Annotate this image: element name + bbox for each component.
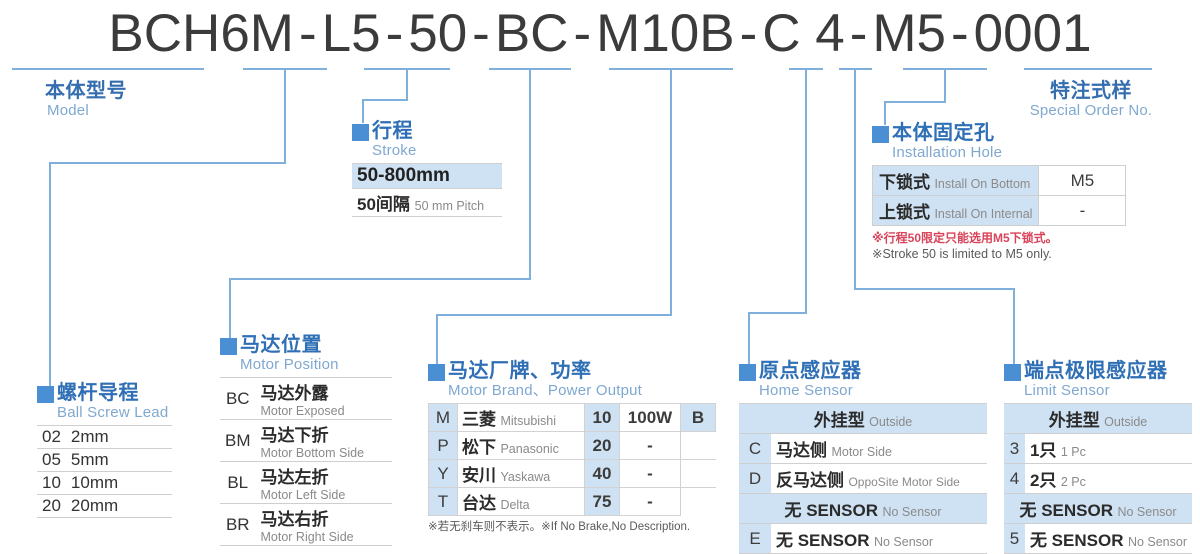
install-bottom-value: M5 bbox=[1039, 166, 1126, 196]
home-sensor-desc: 马达侧 Motor Side bbox=[771, 434, 987, 464]
lead-value: 2mm bbox=[66, 426, 172, 449]
home-sensor-group-outside: 外挂型 Outside bbox=[739, 404, 987, 434]
connector-home-sensor-v2 bbox=[748, 312, 750, 366]
installation-hole-note-en: ※Stroke 50 is limited to M5 only. bbox=[872, 246, 1126, 261]
code-segment-special-order: 0001 bbox=[973, 3, 1093, 64]
connector-installation-hole-h bbox=[884, 101, 946, 103]
limit-sensor-desc-cn: 1只 bbox=[1030, 441, 1056, 460]
motor-position-en: Motor Exposed bbox=[261, 404, 387, 418]
limit-sensor-marker-icon bbox=[1004, 364, 1021, 381]
home-sensor-desc-en: No Sensor bbox=[874, 535, 933, 549]
connector-limit-sensor-v1 bbox=[854, 68, 856, 290]
table-row[interactable]: C 马达侧 Motor Side bbox=[739, 434, 987, 464]
limit-sensor-desc: 2只 2 Pc bbox=[1025, 464, 1192, 494]
brand-name-en: Delta bbox=[500, 498, 529, 512]
limit-sensor-desc-cn: 2只 bbox=[1030, 471, 1056, 490]
installation-hole-note-cn: ※行程50限定只能选用M5下锁式。 bbox=[872, 229, 1126, 246]
ball-screw-lead-table: 02 2mm 05 5mm 10 10mm 20 20mm bbox=[37, 425, 172, 518]
connector-home-sensor-h bbox=[748, 312, 807, 314]
limit-sensor-group-no-sensor: 无 SENSOR No Sensor bbox=[1004, 494, 1192, 524]
section-installation-hole: 本体固定孔 Installation Hole 下锁式 Install On B… bbox=[872, 122, 1126, 261]
connector-motor-brand-v2 bbox=[436, 314, 438, 366]
home-sensor-desc-en: OppoSite Motor Side bbox=[848, 475, 959, 489]
motor-position-desc: 马达右折 Motor Right Side bbox=[256, 504, 392, 546]
code-segment-motor-position: BC bbox=[494, 3, 570, 64]
connector-limit-sensor-v2 bbox=[1013, 288, 1015, 366]
home-sensor-desc: 无 SENSOR No Sensor bbox=[771, 524, 987, 554]
motor-position-marker-icon bbox=[220, 338, 237, 355]
section-limit-sensor-title-en: Limit Sensor bbox=[1004, 382, 1192, 399]
table-row[interactable]: 下锁式 Install On Bottom M5 bbox=[873, 166, 1126, 196]
limit-sensor-group-outside: 外挂型 Outside bbox=[1004, 404, 1192, 434]
power-value: - bbox=[620, 460, 681, 488]
install-internal-label: 上锁式 Install On Internal bbox=[873, 196, 1039, 226]
table-row[interactable]: BR 马达右折 Motor Right Side bbox=[220, 504, 392, 546]
lead-value: 10mm bbox=[66, 472, 172, 495]
home-sensor-desc: 反马达侧 OppoSite Motor Side bbox=[771, 464, 987, 494]
stroke-table: 50-800mm 50间隔 50 mm Pitch bbox=[352, 163, 502, 217]
home-sensor-marker-icon bbox=[739, 364, 756, 381]
brand-name: 安川 Yaskawa bbox=[458, 460, 585, 488]
underline-special-order bbox=[1024, 68, 1152, 70]
brand-name-en: Yaskawa bbox=[500, 470, 550, 484]
connector-motor-brand-v1 bbox=[670, 68, 672, 316]
code-dash-3: - bbox=[468, 3, 494, 64]
code-dash-5: - bbox=[736, 3, 762, 64]
ball-screw-lead-marker-icon bbox=[37, 386, 54, 403]
motor-position-cn: 马达右折 bbox=[261, 505, 387, 530]
section-model-title-cn: 本体型号 bbox=[45, 80, 127, 102]
brand-name-cn: 松下 bbox=[462, 438, 496, 457]
brand-name-cn: 三菱 bbox=[462, 410, 496, 429]
brake-code-empty bbox=[681, 432, 716, 460]
section-limit-sensor-title-cn: 端点极限感应器 bbox=[1024, 360, 1168, 382]
limit-sensor-group-cn: 外挂型 bbox=[1049, 411, 1100, 430]
table-row[interactable]: 50-800mm bbox=[352, 164, 502, 189]
connector-home-sensor-v1 bbox=[805, 68, 807, 314]
connector-ball-screw-lead-v2 bbox=[49, 162, 51, 388]
stroke-pitch-cn: 50间隔 bbox=[357, 195, 410, 214]
table-row: 无 SENSOR No Sensor bbox=[739, 494, 987, 524]
motor-brand-note: ※若无刹车则不表示。※If No Brake,No Description. bbox=[428, 518, 716, 534]
home-sensor-group-en: No Sensor bbox=[882, 505, 941, 519]
code-segment-stroke: 50 bbox=[407, 3, 468, 64]
connector-motor-position-h bbox=[229, 278, 531, 280]
section-stroke: 行程 Stroke 50-800mm 50间隔 50 mm Pitch bbox=[352, 120, 502, 217]
section-special-order-title-cn: 特注式样 bbox=[1016, 80, 1166, 102]
code-dash-6: - bbox=[846, 3, 872, 64]
brand-code: P bbox=[429, 432, 458, 460]
limit-sensor-code: 3 bbox=[1004, 434, 1025, 464]
section-motor-brand-title-cn: 马达厂牌、功率 bbox=[448, 360, 592, 382]
table-row: 外挂型 Outside bbox=[739, 404, 987, 434]
motor-position-code: BM bbox=[220, 420, 256, 462]
motor-position-en: Motor Left Side bbox=[261, 488, 387, 502]
table-row[interactable]: BC 马达外露 Motor Exposed bbox=[220, 378, 392, 420]
motor-position-code: BL bbox=[220, 462, 256, 504]
table-row[interactable]: BM 马达下折 Motor Bottom Side bbox=[220, 420, 392, 462]
install-bottom-label: 下锁式 Install On Bottom bbox=[873, 166, 1039, 196]
limit-sensor-desc-en: No Sensor bbox=[1128, 535, 1187, 549]
section-ball-screw-lead-title-en: Ball Screw Lead bbox=[37, 404, 172, 421]
limit-sensor-table: 外挂型 Outside 3 1只 1 Pc 4 2只 2 Pc bbox=[1004, 403, 1192, 554]
power-code: 10 bbox=[585, 404, 620, 432]
home-sensor-desc-en: Motor Side bbox=[831, 445, 891, 459]
connector-stroke-h bbox=[362, 99, 408, 101]
power-value: - bbox=[620, 432, 681, 460]
brand-name: 台达 Delta bbox=[458, 488, 585, 516]
brand-name: 三菱 Mitsubishi bbox=[458, 404, 585, 432]
brand-name: 松下 Panasonic bbox=[458, 432, 585, 460]
section-home-sensor-title-en: Home Sensor bbox=[739, 382, 987, 399]
power-code: 75 bbox=[585, 488, 620, 516]
home-sensor-group-en: Outside bbox=[869, 415, 912, 429]
motor-position-desc: 马达左折 Motor Left Side bbox=[256, 462, 392, 504]
table-row[interactable]: 02 2mm bbox=[37, 426, 172, 449]
install-internal-value: - bbox=[1039, 196, 1126, 226]
lead-code: 10 bbox=[37, 472, 66, 495]
brake-code-empty bbox=[681, 488, 716, 516]
stroke-pitch-en: 50 mm Pitch bbox=[415, 199, 484, 213]
limit-sensor-group-en: Outside bbox=[1104, 415, 1147, 429]
product-code-diagram: BCH6M - L5 - 50 - BC - M10B - C 4 - M5 -… bbox=[0, 0, 1200, 549]
connector-ball-screw-lead-v1 bbox=[284, 68, 286, 163]
code-segment-sensors: C 4 bbox=[761, 3, 845, 64]
limit-sensor-group-en: No Sensor bbox=[1117, 505, 1176, 519]
section-ball-screw-lead: 螺杆导程 Ball Screw Lead 02 2mm 05 5mm 10 10… bbox=[37, 382, 172, 518]
table-row: 外挂型 Outside bbox=[1004, 404, 1192, 434]
power-value: - bbox=[620, 488, 681, 516]
section-model-title-en: Model bbox=[45, 102, 127, 119]
section-motor-position-title-en: Motor Position bbox=[220, 356, 392, 373]
install-bottom-cn: 下锁式 bbox=[879, 173, 930, 192]
section-motor-brand: 马达厂牌、功率 Motor Brand、Power Output M 三菱 Mi… bbox=[428, 360, 716, 534]
brand-code: T bbox=[429, 488, 458, 516]
lead-value: 20mm bbox=[66, 495, 172, 518]
power-value: 100W bbox=[620, 404, 681, 432]
table-row[interactable]: Y 安川 Yaskawa 40 - bbox=[429, 460, 716, 488]
connector-motor-brand-h bbox=[436, 314, 672, 316]
brake-code: B bbox=[681, 404, 716, 432]
limit-sensor-desc-en: 1 Pc bbox=[1061, 445, 1086, 459]
product-code-string: BCH6M - L5 - 50 - BC - M10B - C 4 - M5 -… bbox=[0, 2, 1200, 64]
home-sensor-code: C bbox=[739, 434, 771, 464]
table-row[interactable]: 4 2只 2 Pc bbox=[1004, 464, 1192, 494]
code-segment-installation-hole: M5 bbox=[871, 3, 947, 64]
motor-brand-marker-icon bbox=[428, 364, 445, 381]
home-sensor-desc-cn: 马达侧 bbox=[776, 441, 827, 460]
power-code: 20 bbox=[585, 432, 620, 460]
home-sensor-code: E bbox=[739, 524, 771, 554]
install-internal-cn: 上锁式 bbox=[879, 203, 930, 222]
motor-position-desc: 马达外露 Motor Exposed bbox=[256, 378, 392, 420]
install-internal-en: Install On Internal bbox=[934, 207, 1032, 221]
table-row[interactable]: 50间隔 50 mm Pitch bbox=[352, 189, 502, 217]
table-row[interactable]: T 台达 Delta 75 - bbox=[429, 488, 716, 516]
section-motor-position: 马达位置 Motor Position BC 马达外露 Motor Expose… bbox=[220, 334, 392, 546]
power-code: 40 bbox=[585, 460, 620, 488]
connector-installation-hole-v1 bbox=[944, 68, 946, 103]
table-row[interactable]: D 反马达侧 OppoSite Motor Side bbox=[739, 464, 987, 494]
section-special-order-title-en: Special Order No. bbox=[1016, 102, 1166, 119]
section-stroke-title-en: Stroke bbox=[352, 142, 502, 159]
lead-code: 02 bbox=[37, 426, 66, 449]
motor-brand-table: M 三菱 Mitsubishi 10 100W B P 松下 Panasonic… bbox=[428, 403, 716, 516]
limit-sensor-desc-en: 2 Pc bbox=[1061, 475, 1086, 489]
motor-position-table: BC 马达外露 Motor Exposed BM 马达下折 Motor Bott… bbox=[220, 377, 392, 546]
table-row[interactable]: BL 马达左折 Motor Left Side bbox=[220, 462, 392, 504]
lead-code: 05 bbox=[37, 449, 66, 472]
section-motor-position-title-cn: 马达位置 bbox=[240, 334, 322, 356]
table-row[interactable]: 20 20mm bbox=[37, 495, 172, 518]
motor-position-desc: 马达下折 Motor Bottom Side bbox=[256, 420, 392, 462]
section-installation-hole-title-cn: 本体固定孔 bbox=[892, 122, 995, 144]
brand-code: M bbox=[429, 404, 458, 432]
installation-hole-table: 下锁式 Install On Bottom M5 上锁式 Install On … bbox=[872, 165, 1126, 226]
section-motor-brand-title-en: Motor Brand、Power Output bbox=[428, 382, 716, 399]
brand-name-cn: 安川 bbox=[462, 466, 496, 485]
motor-position-code: BR bbox=[220, 504, 256, 546]
code-dash-7: - bbox=[947, 3, 973, 64]
code-dash-1: - bbox=[295, 3, 321, 64]
code-segment-motor-brand: M10B bbox=[595, 3, 735, 64]
brand-name-cn: 台达 bbox=[462, 494, 496, 513]
install-bottom-en: Install On Bottom bbox=[934, 177, 1030, 191]
table-row[interactable]: 05 5mm bbox=[37, 449, 172, 472]
limit-sensor-code: 4 bbox=[1004, 464, 1025, 494]
home-sensor-table: 外挂型 Outside C 马达侧 Motor Side D 反马达侧 Oppo… bbox=[739, 403, 987, 554]
table-row[interactable]: M 三菱 Mitsubishi 10 100W B bbox=[429, 404, 716, 432]
code-dash-2: - bbox=[382, 3, 408, 64]
limit-sensor-desc: 1只 1 Pc bbox=[1025, 434, 1192, 464]
connector-motor-position-v1 bbox=[529, 68, 531, 280]
code-segment-model: BCH6M bbox=[107, 3, 295, 64]
code-segment-lead: L5 bbox=[321, 3, 382, 64]
home-sensor-group-cn: 外挂型 bbox=[814, 411, 865, 430]
brake-code-empty bbox=[681, 460, 716, 488]
code-dash-4: - bbox=[569, 3, 595, 64]
connector-ball-screw-lead-h bbox=[49, 162, 286, 164]
installation-hole-marker-icon bbox=[872, 126, 889, 143]
section-home-sensor-title-cn: 原点感应器 bbox=[759, 360, 862, 382]
section-special-order: 特注式样 Special Order No. bbox=[1016, 80, 1166, 119]
table-row[interactable]: P 松下 Panasonic 20 - bbox=[429, 432, 716, 460]
table-row[interactable]: 3 1只 1 Pc bbox=[1004, 434, 1192, 464]
motor-position-cn: 马达左折 bbox=[261, 463, 387, 488]
home-sensor-desc-cn: 反马达侧 bbox=[776, 471, 844, 490]
section-limit-sensor: 端点极限感应器 Limit Sensor 外挂型 Outside 3 1只 1 … bbox=[1004, 360, 1192, 554]
table-row: 无 SENSOR No Sensor bbox=[1004, 494, 1192, 524]
motor-position-en: Motor Bottom Side bbox=[261, 446, 387, 460]
limit-sensor-code: 5 bbox=[1004, 524, 1025, 554]
table-row[interactable]: 5 无 SENSOR No Sensor bbox=[1004, 524, 1192, 554]
home-sensor-code: D bbox=[739, 464, 771, 494]
brand-name-en: Mitsubishi bbox=[500, 414, 556, 428]
table-row[interactable]: 上锁式 Install On Internal - bbox=[873, 196, 1126, 226]
table-row[interactable]: 10 10mm bbox=[37, 472, 172, 495]
lead-value: 5mm bbox=[66, 449, 172, 472]
limit-sensor-desc-cn: 无 SENSOR bbox=[1030, 531, 1124, 550]
connector-motor-position-v2 bbox=[229, 278, 231, 340]
home-sensor-group-cn: 无 SENSOR bbox=[784, 501, 878, 520]
stroke-marker-icon bbox=[352, 124, 369, 141]
motor-position-cn: 马达外露 bbox=[261, 379, 387, 404]
connector-limit-sensor-h bbox=[854, 288, 1015, 290]
table-row[interactable]: E 无 SENSOR No Sensor bbox=[739, 524, 987, 554]
underline-model bbox=[12, 68, 204, 70]
section-ball-screw-lead-title-cn: 螺杆导程 bbox=[57, 382, 139, 404]
connector-stroke-v1 bbox=[406, 68, 408, 101]
stroke-pitch-cell: 50间隔 50 mm Pitch bbox=[352, 189, 502, 217]
home-sensor-group-no-sensor: 无 SENSOR No Sensor bbox=[739, 494, 987, 524]
motor-position-cn: 马达下折 bbox=[261, 421, 387, 446]
home-sensor-desc-cn: 无 SENSOR bbox=[776, 531, 870, 550]
motor-position-en: Motor Right Side bbox=[261, 530, 387, 544]
brand-code: Y bbox=[429, 460, 458, 488]
brand-name-en: Panasonic bbox=[500, 442, 558, 456]
lead-code: 20 bbox=[37, 495, 66, 518]
limit-sensor-desc: 无 SENSOR No Sensor bbox=[1025, 524, 1192, 554]
section-model: 本体型号 Model bbox=[45, 80, 127, 119]
stroke-range-value: 50-800mm bbox=[352, 164, 502, 189]
section-installation-hole-title-en: Installation Hole bbox=[872, 144, 1126, 161]
section-home-sensor: 原点感应器 Home Sensor 外挂型 Outside C 马达侧 Moto… bbox=[739, 360, 987, 554]
motor-position-code: BC bbox=[220, 378, 256, 420]
limit-sensor-group-cn: 无 SENSOR bbox=[1019, 501, 1113, 520]
section-stroke-title-cn: 行程 bbox=[372, 120, 413, 142]
